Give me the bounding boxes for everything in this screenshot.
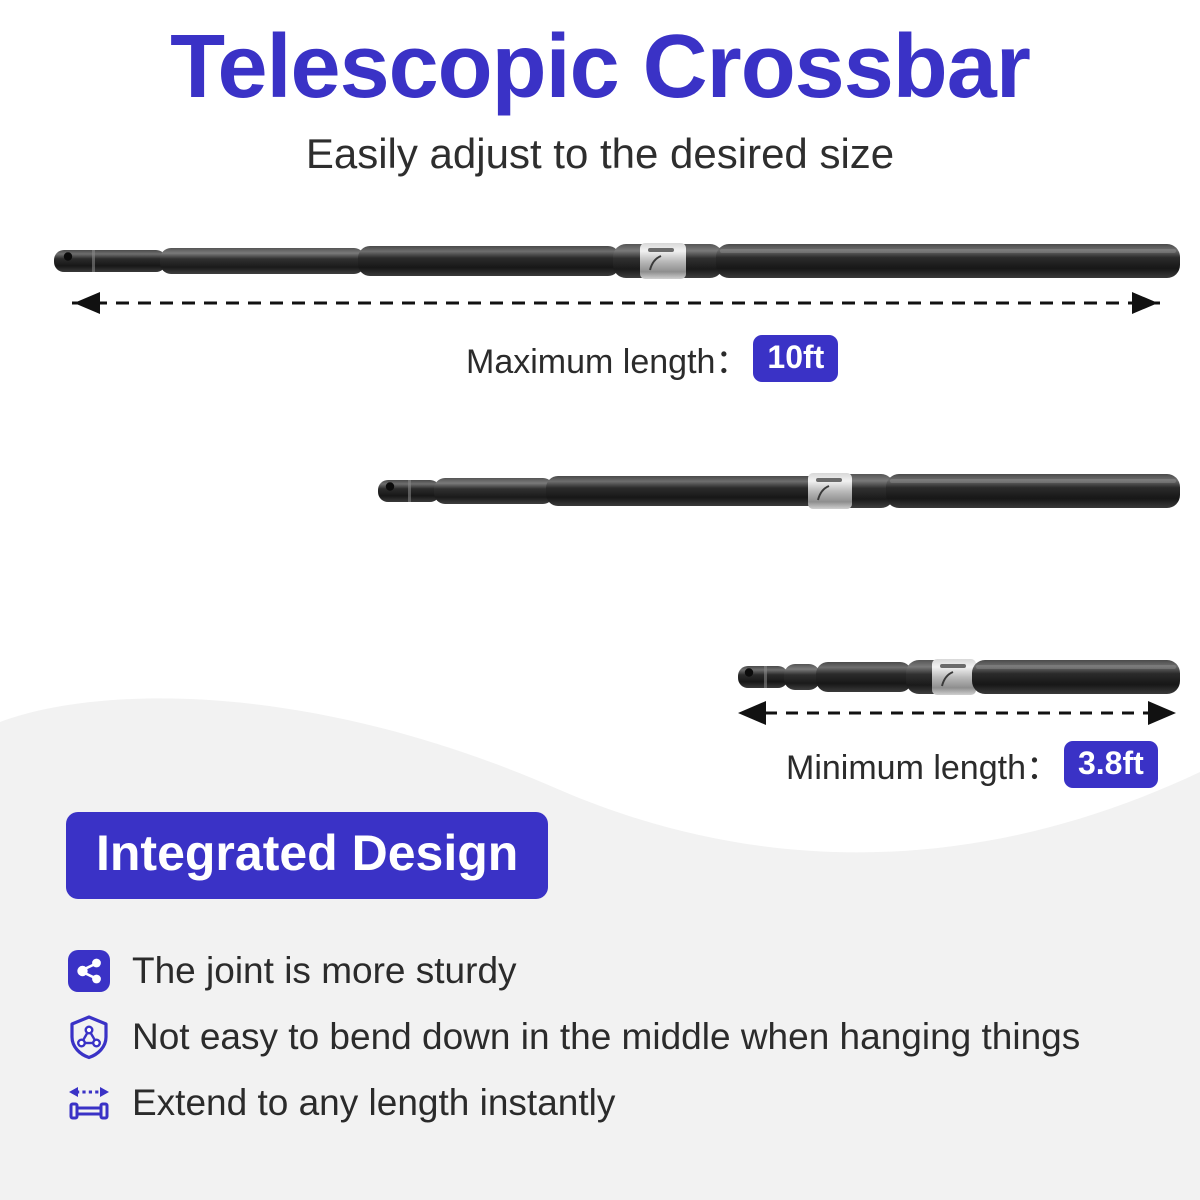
maximum-length-arrow — [48, 290, 1184, 316]
telescopic-pole-mid — [374, 462, 1184, 524]
section-heading-integrated-design: Integrated Design — [66, 812, 548, 899]
page-subtitle: Easily adjust to the desired size — [0, 115, 1200, 177]
share-nodes-icon — [62, 944, 116, 998]
feature-label: Extend to any length instantly — [132, 1083, 615, 1124]
shield-nodes-icon — [62, 1010, 116, 1064]
maximum-length-badge: 10ft — [753, 335, 838, 383]
minimum-length-badge: 3.8ft — [1064, 741, 1158, 789]
page-title: Telescopic Crossbar — [0, 0, 1200, 115]
feature-item-no-bending: Not easy to bend down in the middle when… — [62, 1004, 1172, 1070]
minimum-length-caption: Minimum length： 3.8ft — [786, 740, 1158, 789]
extend-length-icon — [62, 1076, 116, 1130]
feature-label: Not easy to bend down in the middle when… — [132, 1017, 1080, 1058]
minimum-length-label: Minimum length： — [786, 740, 1060, 789]
feature-item-extend-instantly: Extend to any length instantly — [62, 1070, 1172, 1136]
product-infographic: Telescopic Crossbar Easily adjust to the… — [0, 0, 1200, 1200]
section-heading-label: Integrated Design — [96, 825, 518, 881]
telescopic-pole-extended — [48, 232, 1184, 294]
feature-list: The joint is more sturdy Not easy to ben… — [62, 938, 1172, 1136]
minimum-length-arrow — [730, 700, 1184, 726]
maximum-length-label: Maximum length： — [466, 334, 749, 383]
feature-item-joint-sturdy: The joint is more sturdy — [62, 938, 1172, 1004]
header: Telescopic Crossbar Easily adjust to the… — [0, 0, 1200, 177]
maximum-length-caption: Maximum length： 10ft — [466, 334, 838, 383]
feature-label: The joint is more sturdy — [132, 951, 517, 992]
